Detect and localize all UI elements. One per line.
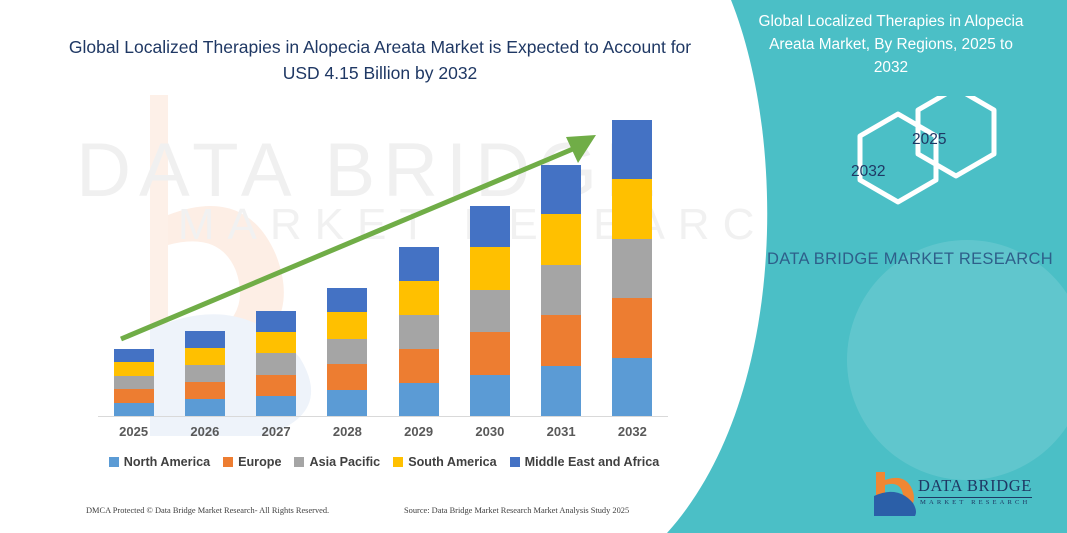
bar-segment-middle-east-and-africa[interactable] [612,120,652,179]
bar-segment-middle-east-and-africa[interactable] [327,288,367,312]
hexagon-label-2032: 2032 [851,163,885,181]
legend-item-asia-pacific[interactable]: Asia Pacific [294,455,380,469]
bar-segment-north-america[interactable] [114,403,154,417]
legend-item-europe[interactable]: Europe [223,455,281,469]
bar-segment-europe[interactable] [185,382,225,399]
infographic-root: DATA BRIDGE MARKET RESEARCH Global Local… [0,0,1067,533]
brand-logo-title: DATA BRIDGE [918,476,1032,498]
x-axis-label-2028: 2028 [312,424,382,439]
bar-segment-north-america[interactable] [256,396,296,417]
chart-legend: North AmericaEuropeAsia PacificSouth Ame… [98,455,670,469]
x-axis-label-2026: 2026 [170,424,240,439]
footer-copyright: DMCA Protected © Data Bridge Market Rese… [86,506,329,515]
bar-segment-europe[interactable] [541,315,581,366]
brand-logo: DATA BRIDGE MARKET RESEARCH [868,470,1048,518]
bar-segment-asia-pacific[interactable] [327,339,367,364]
bar-2032[interactable] [612,120,652,417]
bar-segment-asia-pacific[interactable] [256,353,296,374]
hexagon-group-icon [812,96,1032,226]
legend-item-south-america[interactable]: South America [393,455,496,469]
legend-label: Asia Pacific [309,455,380,469]
bar-2031[interactable] [541,165,581,417]
brand-logo-subtitle: MARKET RESEARCH [920,499,1030,506]
x-axis-label-2030: 2030 [455,424,525,439]
legend-label: South America [408,455,496,469]
bar-segment-south-america[interactable] [470,247,510,289]
bar-segment-europe[interactable] [114,389,154,403]
legend-swatch-icon [223,457,233,467]
bar-segment-north-america[interactable] [612,358,652,417]
footer-source: Source: Data Bridge Market Research Mark… [404,506,629,515]
x-axis-line [98,416,668,417]
bar-segment-asia-pacific[interactable] [541,265,581,315]
bar-segment-north-america[interactable] [470,375,510,417]
legend-item-middle-east-and-africa[interactable]: Middle East and Africa [510,455,660,469]
bar-segment-north-america[interactable] [399,383,439,417]
bar-segment-europe[interactable] [612,298,652,357]
bar-2029[interactable] [399,247,439,417]
bar-2028[interactable] [327,288,367,417]
bar-segment-middle-east-and-africa[interactable] [185,331,225,348]
x-axis-label-2025: 2025 [99,424,169,439]
bar-segment-asia-pacific[interactable] [399,315,439,349]
brand-logo-mark-icon [868,470,918,516]
bar-segment-south-america[interactable] [541,214,581,265]
bar-segment-asia-pacific[interactable] [114,376,154,390]
bar-segment-south-america[interactable] [114,362,154,376]
bar-2026[interactable] [185,331,225,417]
bar-segment-asia-pacific[interactable] [470,290,510,332]
side-panel-title: Global Localized Therapies in Alopecia A… [751,10,1031,79]
legend-swatch-icon [294,457,304,467]
bar-segment-south-america[interactable] [256,332,296,353]
legend-swatch-icon [510,457,520,467]
bar-segment-asia-pacific[interactable] [612,239,652,298]
x-axis-label-2029: 2029 [384,424,454,439]
bar-2027[interactable] [256,311,296,417]
legend-swatch-icon [393,457,403,467]
x-axis-label-2032: 2032 [597,424,667,439]
legend-label: North America [124,455,210,469]
legend-label: Middle East and Africa [525,455,660,469]
bar-segment-europe[interactable] [327,364,367,391]
side-panel-brand: DATA BRIDGE MARKET RESEARCH [760,245,1060,273]
legend-swatch-icon [109,457,119,467]
bar-segment-asia-pacific[interactable] [185,365,225,382]
x-axis-label-2027: 2027 [241,424,311,439]
bar-segment-north-america[interactable] [185,399,225,417]
bar-segment-south-america[interactable] [612,179,652,238]
bar-segment-middle-east-and-africa[interactable] [399,247,439,281]
hexagon-label-2025: 2025 [912,131,946,149]
legend-label: Europe [238,455,281,469]
bar-segment-middle-east-and-africa[interactable] [470,206,510,247]
bar-segment-south-america[interactable] [185,348,225,365]
bar-2030[interactable] [470,206,510,417]
legend-item-north-america[interactable]: North America [109,455,210,469]
bar-segment-europe[interactable] [256,375,296,396]
bar-2025[interactable] [114,349,154,417]
bar-segment-middle-east-and-africa[interactable] [114,349,154,362]
bar-segment-europe[interactable] [470,332,510,374]
bar-segment-europe[interactable] [399,349,439,383]
bar-segment-south-america[interactable] [327,312,367,339]
bar-segment-middle-east-and-africa[interactable] [541,165,581,215]
x-axis-label-2031: 2031 [526,424,596,439]
page-title: Global Localized Therapies in Alopecia A… [60,34,700,86]
bar-segment-south-america[interactable] [399,281,439,315]
chart-plot-area [98,120,668,417]
bar-segment-middle-east-and-africa[interactable] [256,311,296,332]
x-axis-labels: 20252026202720282029203020312032 [98,424,668,444]
bar-segment-north-america[interactable] [541,366,581,417]
bar-segment-north-america[interactable] [327,390,367,417]
